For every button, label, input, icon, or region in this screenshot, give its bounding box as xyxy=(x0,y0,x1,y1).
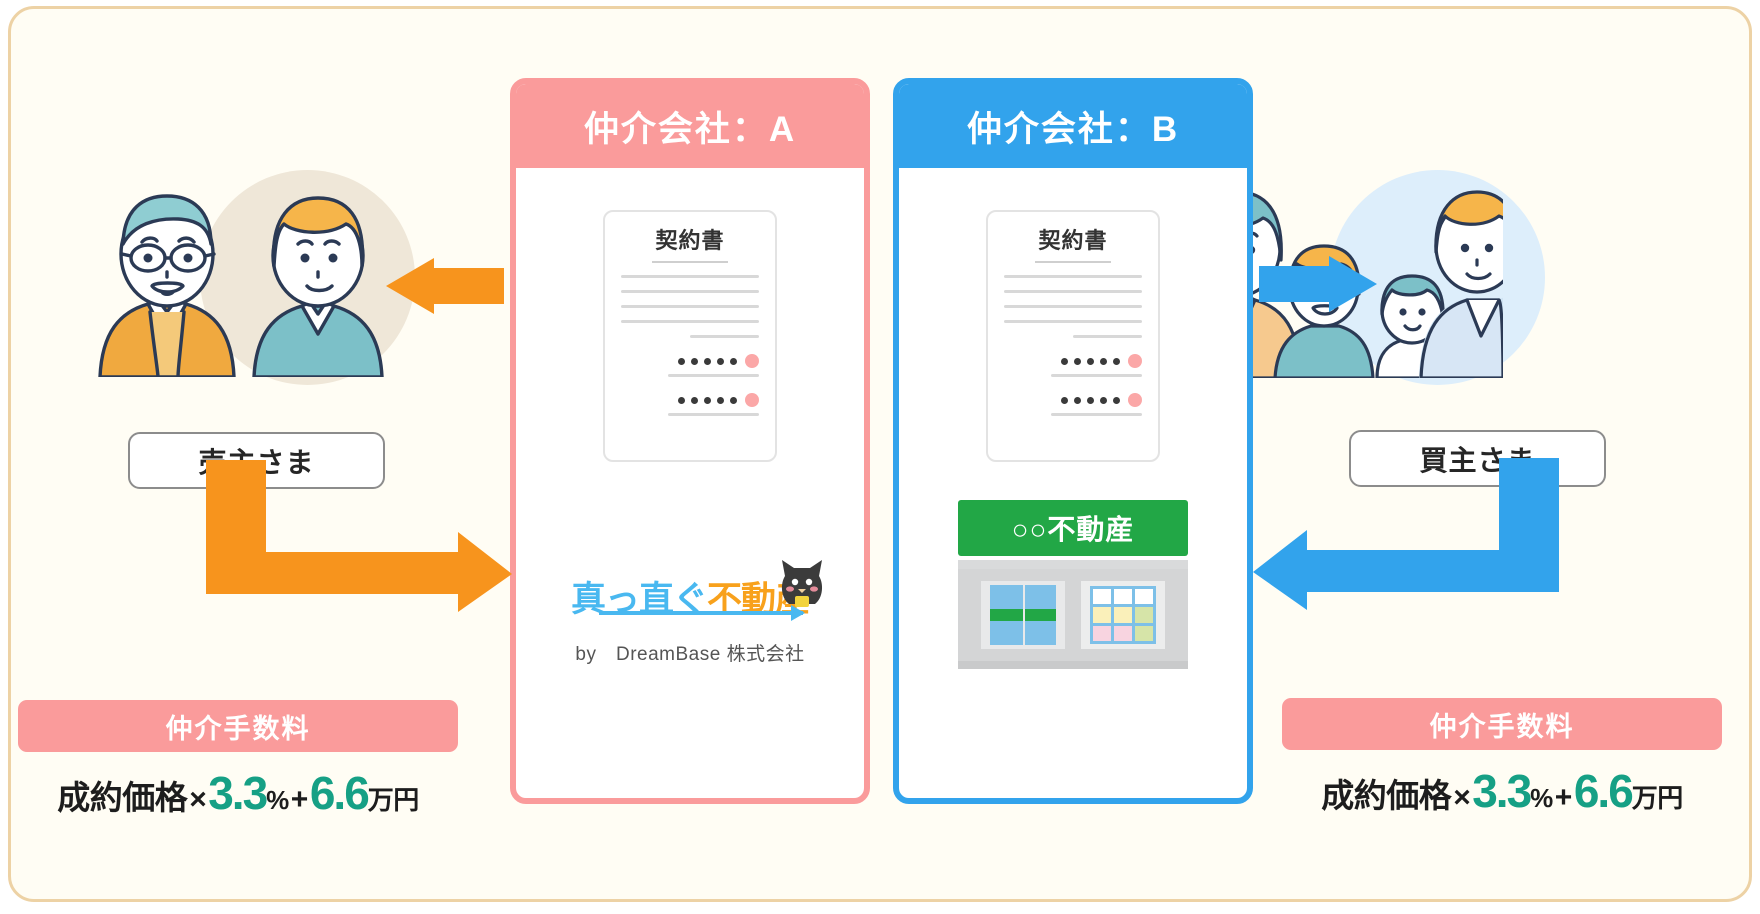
fee-multiply-right: × xyxy=(1451,781,1472,815)
seller-couple-illustration xyxy=(78,162,398,377)
signature-rule xyxy=(1051,374,1142,377)
diagram-stage: 売主さま 買主さま 仲介会社：A 契約書 xyxy=(0,0,1760,914)
contract-line xyxy=(1004,320,1142,323)
signature-rule xyxy=(1051,413,1142,416)
shop-door xyxy=(981,581,1065,649)
agency-b-header: 仲介会社：B xyxy=(899,84,1247,168)
fee-flat-left: 6.6 xyxy=(310,766,368,820)
brand-byline: by DreamBase 株式会社 xyxy=(516,639,864,666)
signature-dots xyxy=(1061,358,1120,365)
agency-a-title: 仲介会社：A xyxy=(584,101,796,152)
signature-rule xyxy=(668,413,759,416)
brand-underline-arrow-icon xyxy=(599,611,803,615)
fee-percent-left: % xyxy=(266,785,289,816)
fee-flat-unit-left: 万円 xyxy=(368,780,419,817)
arrow-seller-to-agency-a xyxy=(200,460,512,612)
arrow-buyer-to-agency-b xyxy=(1253,458,1565,610)
agency-b-shop: ○○不動産 xyxy=(958,500,1188,669)
fee-base-right: 成約価格 xyxy=(1321,769,1451,817)
contract-line xyxy=(1004,290,1142,293)
signature-row xyxy=(621,393,759,407)
contract-line xyxy=(621,290,759,293)
contract-line xyxy=(1004,305,1142,308)
signature-seal-icon xyxy=(1128,354,1142,368)
brand-logo: 真っ直ぐ不動産 xyxy=(571,582,809,617)
shop-body xyxy=(958,569,1188,661)
agency-panel-a[interactable]: 仲介会社：A 契約書 真っ直ぐ不動産 xyxy=(510,78,870,804)
contract-title-a: 契約書 xyxy=(621,230,759,252)
fee-badge-right: 仲介手数料 xyxy=(1282,698,1722,750)
fee-flat-right: 6.6 xyxy=(1574,764,1632,818)
contract-paper-b: 契約書 xyxy=(986,210,1160,462)
signature-row xyxy=(1004,393,1142,407)
contract-title-rule-a xyxy=(652,261,728,263)
contract-paper-a: 契約書 xyxy=(603,210,777,462)
fee-badge-left-text: 仲介手数料 xyxy=(166,707,311,746)
fee-badge-left: 仲介手数料 xyxy=(18,700,458,752)
agency-a-header: 仲介会社：A xyxy=(516,84,864,168)
fee-rate-left: 3.3 xyxy=(208,766,266,820)
signature-rule xyxy=(668,374,759,377)
arrow-agency-b-to-buyer xyxy=(1259,256,1377,312)
signature-seal-icon xyxy=(1128,393,1142,407)
fee-flat-unit-right: 万円 xyxy=(1632,778,1683,815)
fee-rate-right: 3.3 xyxy=(1472,764,1530,818)
agency-panel-b[interactable]: 仲介会社：B 契約書 ○○不動産 xyxy=(893,78,1253,804)
shop-base xyxy=(958,661,1188,669)
fee-formula-left: 成約価格×3.3%+6.6万円 xyxy=(18,766,458,820)
arrow-agency-a-to-seller xyxy=(386,258,504,314)
fee-plus-left: + xyxy=(289,783,310,817)
shop-listing-grid xyxy=(1090,586,1156,644)
fee-block-buyer-side: 仲介手数料 成約価格×3.3%+6.6万円 xyxy=(1282,698,1722,818)
signature-row xyxy=(1004,354,1142,368)
contract-line xyxy=(690,335,759,338)
contract-line xyxy=(621,275,759,278)
fee-formula-right: 成約価格×3.3%+6.6万円 xyxy=(1282,764,1722,818)
fee-plus-right: + xyxy=(1553,781,1574,815)
contract-title-b: 契約書 xyxy=(1004,230,1142,252)
contract-line xyxy=(1073,335,1142,338)
fee-base-left: 成約価格 xyxy=(57,771,187,819)
shop-window xyxy=(1081,581,1165,649)
signature-dots xyxy=(678,397,737,404)
fee-block-seller-side: 仲介手数料 成約価格×3.3%+6.6万円 xyxy=(18,700,458,820)
signature-dots xyxy=(678,358,737,365)
signature-dots xyxy=(1061,397,1120,404)
contract-line xyxy=(621,320,759,323)
contract-line xyxy=(621,305,759,308)
fee-multiply-left: × xyxy=(187,783,208,817)
contract-title-rule-b xyxy=(1035,261,1111,263)
shop-eave xyxy=(958,560,1188,569)
shop-sign: ○○不動産 xyxy=(958,500,1188,556)
cat-mascot-icon xyxy=(779,556,825,608)
contract-line xyxy=(1004,275,1142,278)
fee-percent-right: % xyxy=(1530,783,1553,814)
fee-badge-right-text: 仲介手数料 xyxy=(1430,705,1575,744)
agency-b-title: 仲介会社：B xyxy=(967,101,1179,152)
signature-seal-icon xyxy=(745,393,759,407)
signature-row xyxy=(621,354,759,368)
agency-a-brand: 真っ直ぐ不動産 by DreamBase 株式会社 xyxy=(516,582,864,666)
signature-seal-icon xyxy=(745,354,759,368)
shop-sign-text: ○○不動産 xyxy=(1012,508,1135,548)
